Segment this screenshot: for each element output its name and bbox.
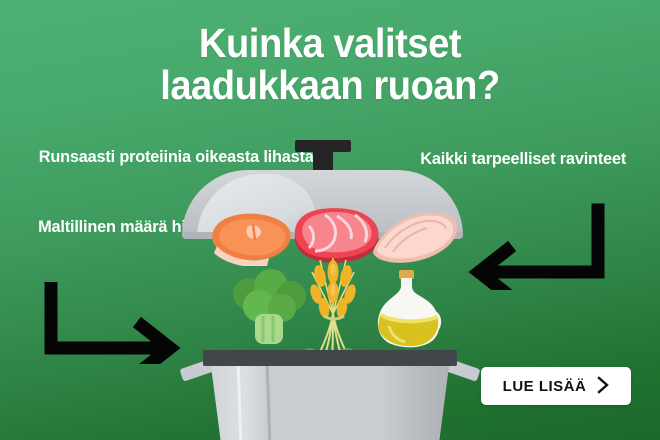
pot-rim	[203, 350, 457, 366]
chicken-breast-icon	[365, 208, 463, 266]
elbow-arrow-down-left-icon	[465, 200, 605, 295]
title-line-2: laadukkaan ruoan?	[23, 64, 637, 106]
broccoli-icon	[227, 268, 311, 350]
page-title: Kuinka valitset laadukkaan ruoan?	[23, 22, 637, 106]
promo-banner: Kuinka valitset laadukkaan ruoan? Runsaa…	[0, 0, 660, 440]
olive-oil-bottle-icon	[365, 268, 449, 350]
cooking-pot-icon	[211, 366, 449, 440]
read-more-label: LUE LISÄÄ	[503, 378, 587, 395]
elbow-arrow-down-right-icon	[44, 282, 184, 369]
food-illustration	[175, 128, 485, 440]
title-line-1: Kuinka valitset	[199, 20, 461, 66]
read-more-button[interactable]: LUE LISÄÄ	[481, 367, 631, 405]
chevron-right-icon	[597, 376, 609, 397]
